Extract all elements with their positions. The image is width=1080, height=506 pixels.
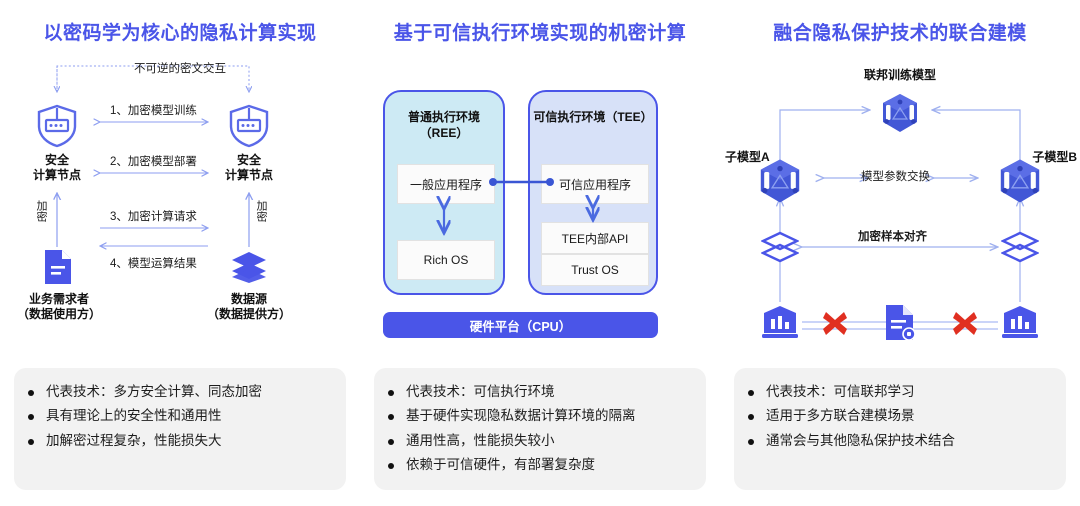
model-cube-icon-top: [877, 90, 923, 141]
data-stack-icon-right: [1001, 231, 1039, 270]
panel-tee: 基于可信执行环境实现的机密计算 普通执行环境 （REE） 一般应用程序 Rich…: [360, 0, 720, 506]
hardware-platform-bar: 硬件平台（CPU）: [383, 312, 658, 338]
bullet-text: 依赖于可信硬件，有部署复杂度: [406, 455, 595, 475]
node-caption-right: 安全 计算节点: [199, 153, 299, 183]
federated-model-caption: 联邦训练模型: [830, 68, 970, 83]
list-item: 代表技术：多方安全计算、同态加密: [28, 382, 336, 402]
bullet-dot-icon: [748, 414, 754, 420]
cross-icon-left: [820, 308, 850, 343]
list-item: 通常会与其他隐私保护技术结合: [748, 431, 1056, 451]
bullet-text: 通用性高，性能损失较小: [406, 431, 555, 451]
data-stack-icon-left: [761, 231, 799, 270]
flow-label-2: 2、加密模型部署: [110, 153, 197, 169]
bullet-dot-icon: [388, 414, 394, 420]
diagram-cryptography: 不可逆的密文交互 1、加密模型训练 2、加密模型部署 3、加密计算请求 4、模型…: [0, 50, 360, 362]
flow-label-3: 3、加密计算请求: [110, 208, 197, 224]
bullet-dot-icon: [388, 463, 394, 469]
bullet-card-2: 代表技术：可信执行环境 基于硬件实现隐私数据计算环境的隔离 通用性高，性能损失较…: [374, 368, 706, 490]
bullet-dot-icon: [28, 390, 34, 396]
panel-title-1: 以密码学为核心的隐私计算实现: [0, 18, 360, 45]
panel-title-2: 基于可信执行环境实现的机密计算: [360, 18, 720, 45]
bullet-text: 代表技术：可信联邦学习: [766, 382, 915, 402]
bullet-dot-icon: [388, 390, 394, 396]
edge-label-encrypt-right: 加密: [253, 200, 269, 222]
data-stack-icon: [230, 250, 268, 289]
list-item: 依赖于可信硬件，有部署复杂度: [388, 455, 696, 475]
list-item: 适用于多方联合建模场景: [748, 406, 1056, 426]
actor-caption-left: 业务需求者 （数据使用方）: [0, 292, 118, 322]
list-item: 具有理论上的安全性和通用性: [28, 406, 336, 426]
panel-title-3: 融合隐私保护技术的联合建模: [720, 18, 1080, 45]
bullet-text: 通常会与其他隐私保护技术结合: [766, 431, 955, 451]
param-exchange-label: 模型参数交换: [861, 168, 930, 184]
list-item: 代表技术：可信联邦学习: [748, 382, 1056, 402]
bank-icon-left: [760, 305, 800, 346]
label-irreversible-ciphertext: 不可逆的密文交互: [0, 60, 360, 76]
shield-server-icon-right: [225, 102, 273, 155]
infographic-board: 以密码学为核心的隐私计算实现: [0, 0, 1080, 506]
flow-label-1: 1、加密模型训练: [110, 102, 197, 118]
document-icon: [43, 248, 73, 291]
bullet-text: 代表技术：可信执行环境: [406, 382, 555, 402]
edge-label-encrypt-left: 加密: [33, 200, 49, 222]
flow-label-4: 4、模型运算结果: [110, 255, 197, 271]
diagram-federated: 联邦训练模型 子模型A 子模型B: [720, 50, 1080, 362]
bullet-dot-icon: [28, 414, 34, 420]
actor-caption-right: 数据源 （数据提供方）: [190, 292, 308, 322]
list-item: 加解密过程复杂，性能损失大: [28, 431, 336, 451]
sample-align-label: 加密样本对齐: [858, 228, 927, 244]
diagram-tee: 普通执行环境 （REE） 一般应用程序 Rich OS 可信执行环境（TEE） …: [360, 50, 720, 362]
bullet-text: 基于硬件实现隐私数据计算环境的隔离: [406, 406, 636, 426]
bullet-dot-icon: [388, 439, 394, 445]
panel-cryptography: 以密码学为核心的隐私计算实现: [0, 0, 360, 506]
locked-document-icon: [883, 303, 917, 348]
bullet-dot-icon: [748, 390, 754, 396]
bullet-text: 适用于多方联合建模场景: [766, 406, 915, 426]
node-caption-left: 安全 计算节点: [7, 153, 107, 183]
bullet-card-1: 代表技术：多方安全计算、同态加密 具有理论上的安全性和通用性 加解密过程复杂，性…: [14, 368, 346, 490]
bullet-dot-icon: [748, 439, 754, 445]
list-item: 通用性高，性能损失较小: [388, 431, 696, 451]
list-item: 基于硬件实现隐私数据计算环境的隔离: [388, 406, 696, 426]
bullet-dot-icon: [28, 439, 34, 445]
shield-server-icon: [33, 102, 81, 155]
model-cube-icon-left: [754, 155, 806, 212]
bullet-text: 具有理论上的安全性和通用性: [46, 406, 222, 426]
model-cube-icon-right: [994, 155, 1046, 212]
bullet-text: 加解密过程复杂，性能损失大: [46, 431, 222, 451]
panel-federated: 融合隐私保护技术的联合建模: [720, 0, 1080, 506]
bank-icon-right: [1000, 305, 1040, 346]
list-item: 代表技术：可信执行环境: [388, 382, 696, 402]
bullet-text: 代表技术：多方安全计算、同态加密: [46, 382, 262, 402]
bullet-card-3: 代表技术：可信联邦学习 适用于多方联合建模场景 通常会与其他隐私保护技术结合: [734, 368, 1066, 490]
cross-icon-right: [950, 308, 980, 343]
